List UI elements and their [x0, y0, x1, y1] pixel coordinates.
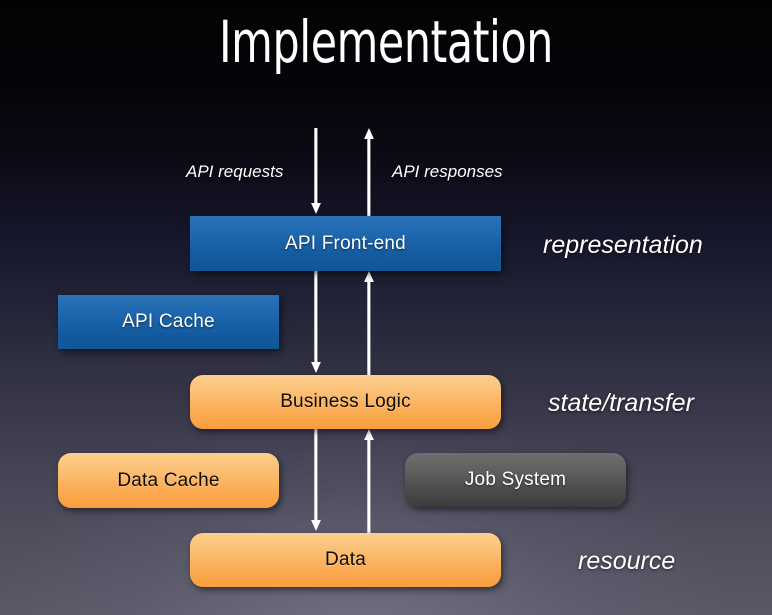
phase-label-resource: resource [578, 547, 675, 576]
arrow-logic-to-front-end [360, 271, 378, 375]
component-box-api-cache[interactable]: API Cache [58, 295, 279, 349]
edge-label-api-responses: API responses [392, 162, 503, 182]
component-box-label: Data [325, 549, 366, 571]
phase-label-representation: representation [543, 231, 703, 260]
component-box-label: Job System [465, 469, 566, 491]
arrow-front-end-to-logic [307, 271, 325, 373]
slide-canvas: Implementation API Front-endAPI CacheBus… [0, 0, 772, 615]
component-box-label: API Cache [122, 311, 215, 333]
component-box-data[interactable]: Data [190, 533, 501, 587]
arrow-requests-into-front-end [307, 128, 325, 214]
component-box-label: Business Logic [280, 391, 411, 413]
component-box-api-front-end[interactable]: API Front-end [190, 216, 501, 271]
component-box-data-cache[interactable]: Data Cache [58, 453, 279, 508]
arrow-responses-out-of-front-end [360, 128, 378, 216]
page-title: Implementation [69, 8, 702, 76]
component-box-job-system[interactable]: Job System [405, 453, 626, 507]
edge-label-api-requests: API requests [186, 162, 283, 182]
component-box-business-logic[interactable]: Business Logic [190, 375, 501, 429]
arrow-data-to-logic [360, 429, 378, 533]
phase-label-state-transfer: state/transfer [548, 389, 694, 418]
component-box-label: Data Cache [117, 470, 219, 492]
arrow-logic-to-data [307, 429, 325, 531]
component-box-label: API Front-end [285, 233, 406, 255]
